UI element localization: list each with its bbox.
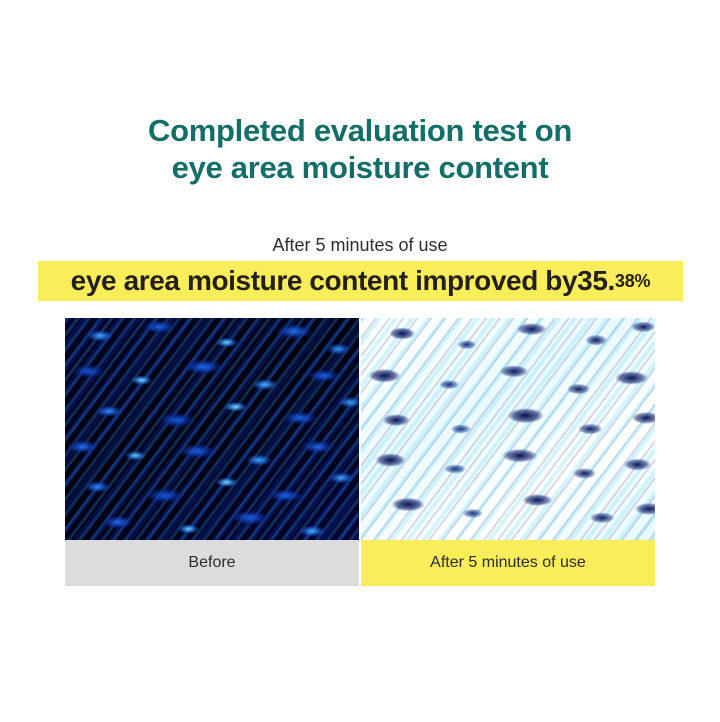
page-title-line-2: eye area moisture content: [0, 149, 720, 186]
result-value-fraction: 38%: [615, 271, 650, 292]
before-panel-label: Before: [65, 540, 359, 586]
page-title: Completed evaluation test on eye area mo…: [0, 112, 720, 186]
subtitle-text: After 5 minutes of use: [0, 234, 720, 256]
page-title-line-1: Completed evaluation test on: [0, 112, 720, 149]
before-after-comparison: Before After 5 minutes of use: [65, 318, 655, 586]
result-value: 35.: [577, 265, 615, 297]
after-panel: After 5 minutes of use: [361, 318, 655, 586]
before-skin-image: [65, 318, 359, 540]
promo-page: Completed evaluation test on eye area mo…: [0, 0, 720, 722]
after-panel-label: After 5 minutes of use: [361, 540, 655, 586]
after-skin-image: [361, 318, 655, 540]
result-description: eye area moisture content improved by: [71, 266, 577, 296]
before-panel: Before: [65, 318, 359, 586]
result-highlight-banner: eye area moisture content improved by 35…: [38, 261, 683, 301]
